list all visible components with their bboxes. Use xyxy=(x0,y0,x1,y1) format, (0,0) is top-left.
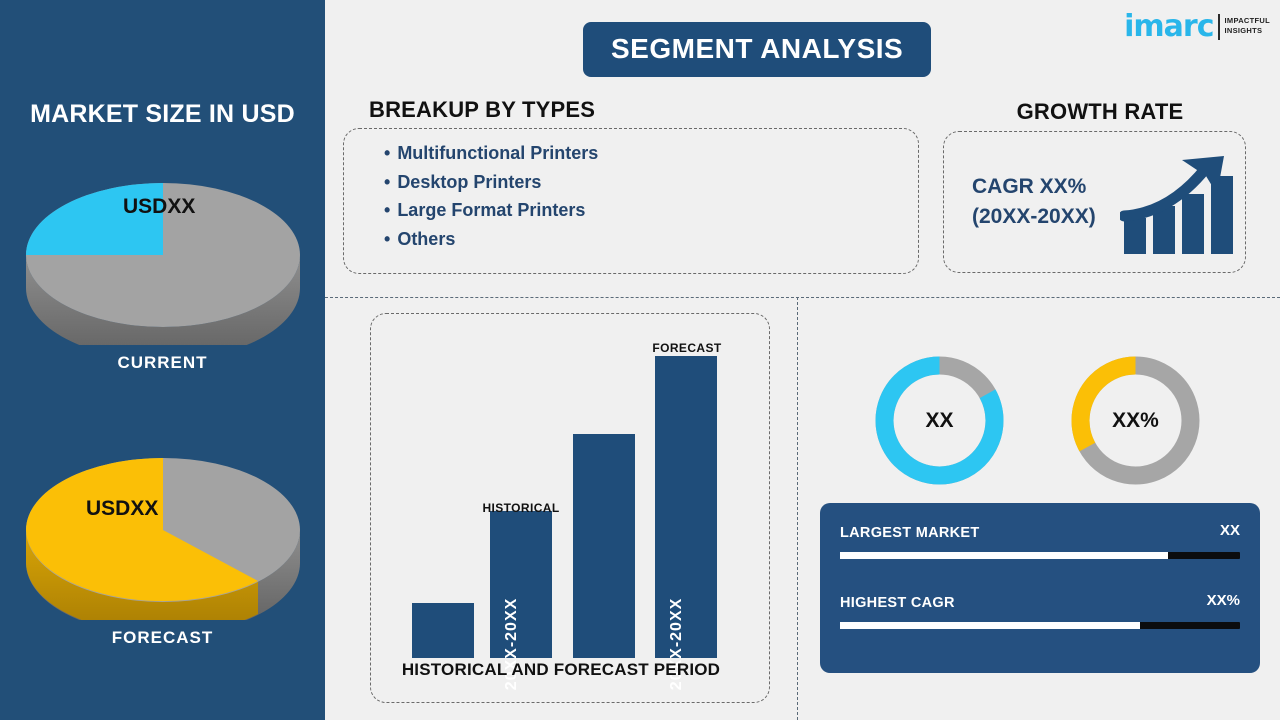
forecast-pie-chart: USDXX FORECAST xyxy=(0,435,325,648)
logo-tagline-line1: IMPACTFUL xyxy=(1225,16,1270,26)
breakup-by-types-heading: BREAKUP BY TYPES xyxy=(369,97,595,123)
highest-cagr-track xyxy=(840,622,1240,629)
largest-market-track xyxy=(840,552,1240,559)
type-label: Desktop Printers xyxy=(397,172,541,192)
share-donut: XX xyxy=(871,352,1008,494)
bar-2: 20XX-20XX xyxy=(490,511,552,658)
stats-panel: LARGEST MARKET XX HIGHEST CAGR XX% xyxy=(820,503,1260,673)
list-item: •Desktop Printers xyxy=(384,168,598,197)
cagr-text: CAGR XX% (20XX-20XX) xyxy=(972,172,1096,232)
highest-cagr-row: HIGHEST CAGR XX% xyxy=(840,595,1240,619)
logo-tagline: IMPACTFUL INSIGHTS xyxy=(1225,12,1270,36)
current-pie-slice-label: USDXX xyxy=(123,195,195,218)
bar-1 xyxy=(412,603,474,658)
logo-divider xyxy=(1218,14,1220,40)
list-item: •Multifunctional Printers xyxy=(384,139,598,168)
current-pie-svg: USDXX xyxy=(18,160,308,345)
largest-market-fill xyxy=(840,552,1168,559)
vertical-divider xyxy=(797,297,798,720)
main-panel: SEGMENT ANALYSIS imarc IMPACTFUL INSIGHT… xyxy=(325,0,1280,720)
growth-donut-value: XX% xyxy=(1067,352,1204,489)
share-donut-value: XX xyxy=(871,352,1008,489)
logo-tagline-line2: INSIGHTS xyxy=(1225,26,1270,36)
infographic-root: MARKET SIZE IN USD USDXX CURRENT xyxy=(0,0,1280,720)
forecast-pie-label: FORECAST xyxy=(0,628,325,648)
sidebar-title: MARKET SIZE IN USD xyxy=(0,100,325,129)
cagr-line-2: (20XX-20XX) xyxy=(972,202,1096,232)
types-list: •Multifunctional Printers •Desktop Print… xyxy=(384,139,598,253)
pie-slice-accent xyxy=(26,183,163,255)
largest-market-stat: LARGEST MARKET XX xyxy=(840,525,1240,559)
highest-cagr-fill xyxy=(840,622,1140,629)
highest-cagr-stat: HIGHEST CAGR XX% xyxy=(840,595,1240,629)
imarc-logo: imarc IMPACTFUL INSIGHTS xyxy=(1124,12,1270,42)
current-pie-label: CURRENT xyxy=(0,353,325,373)
bullet-icon: • xyxy=(384,172,390,192)
growth-arrow-chart-icon xyxy=(1120,154,1236,258)
bar-3 xyxy=(573,434,635,658)
largest-market-label: LARGEST MARKET xyxy=(840,525,980,541)
forecast-pie-svg: USDXX xyxy=(18,435,308,620)
largest-market-row: LARGEST MARKET XX xyxy=(840,525,1240,549)
list-item: •Large Format Printers xyxy=(384,196,598,225)
bullet-icon: • xyxy=(384,200,390,220)
type-label: Multifunctional Printers xyxy=(397,143,598,163)
market-size-sidebar: MARKET SIZE IN USD USDXX CURRENT xyxy=(0,0,325,720)
chart-caption: HISTORICAL AND FORECAST PERIOD xyxy=(325,660,797,680)
list-item: •Others xyxy=(384,225,598,254)
current-pie-chart: USDXX CURRENT xyxy=(0,160,325,373)
historical-annotation: HISTORICAL xyxy=(466,501,576,515)
header: SEGMENT ANALYSIS imarc IMPACTFUL INSIGHT… xyxy=(325,0,1280,92)
logo-wordmark: imarc xyxy=(1124,12,1213,42)
forecast-annotation: FORECAST xyxy=(632,341,742,355)
historical-forecast-bar-chart: 20XX-20XX 20XX-20XX HISTORICAL FORECAST xyxy=(370,313,770,703)
growth-donut: XX% xyxy=(1067,352,1204,494)
breakup-by-types-box: •Multifunctional Printers •Desktop Print… xyxy=(343,128,919,274)
largest-market-value: XX xyxy=(1220,522,1240,539)
page-title: SEGMENT ANALYSIS xyxy=(583,22,931,77)
bullet-icon: • xyxy=(384,143,390,163)
highest-cagr-value: XX% xyxy=(1207,592,1240,609)
highest-cagr-label: HIGHEST CAGR xyxy=(840,595,955,611)
growth-rate-box: CAGR XX% (20XX-20XX) xyxy=(943,131,1246,273)
forecast-pie-slice-label: USDXX xyxy=(86,497,158,520)
cagr-line-1: CAGR XX% xyxy=(972,172,1096,202)
bar-4: 20XX-20XX xyxy=(655,356,717,658)
type-label: Others xyxy=(397,229,455,249)
type-label: Large Format Printers xyxy=(397,200,585,220)
growth-rate-heading: GROWTH RATE xyxy=(940,99,1260,125)
bullet-icon: • xyxy=(384,229,390,249)
horizontal-divider xyxy=(325,297,1280,298)
